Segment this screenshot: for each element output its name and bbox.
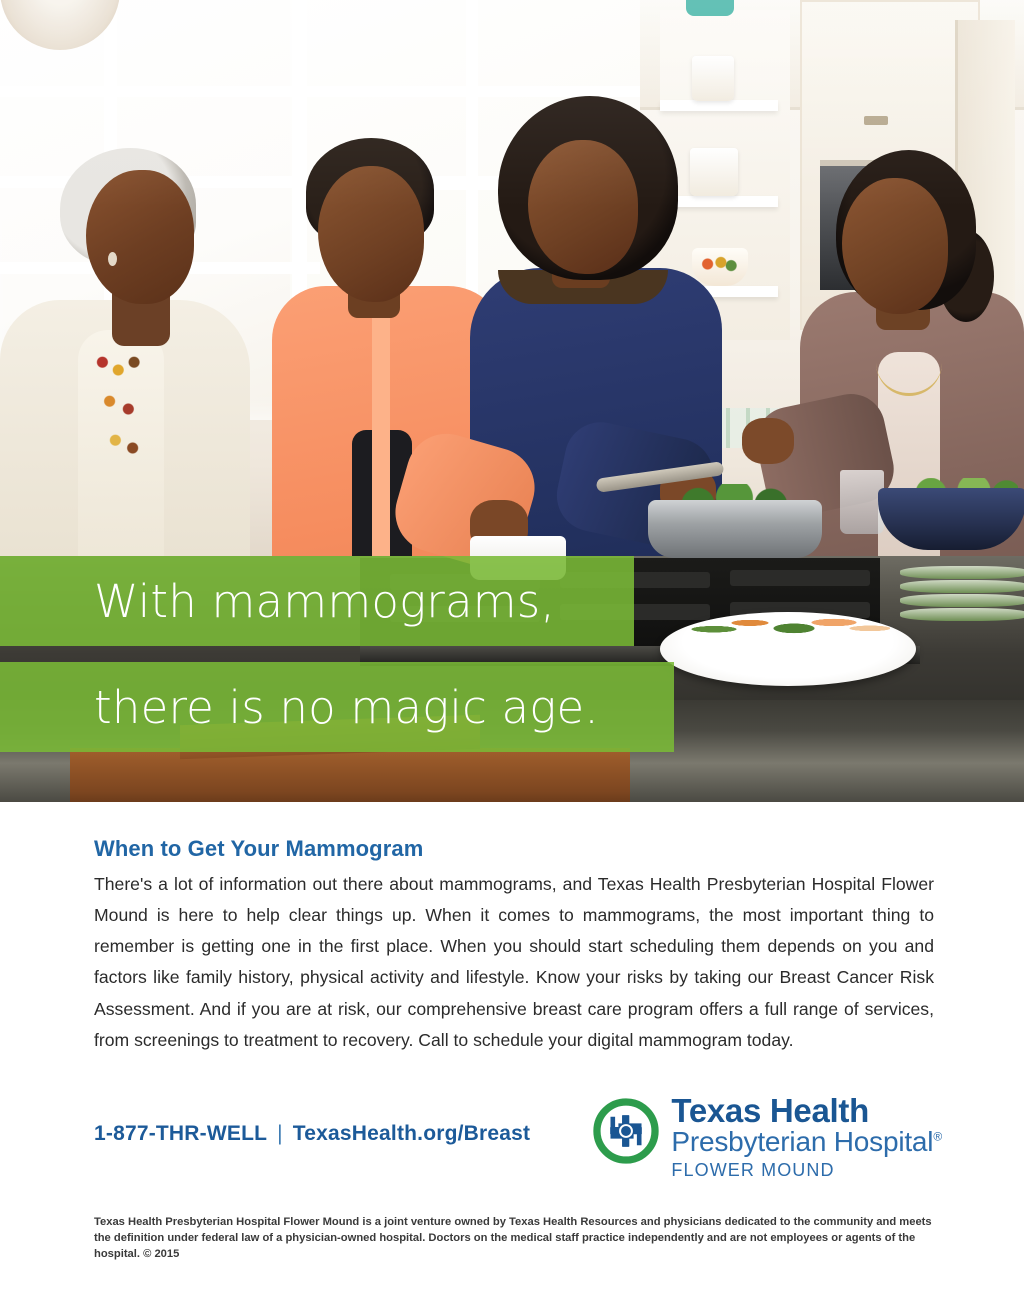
headline-band-1: With mammograms, xyxy=(0,556,634,646)
contact-and-logo-row: 1-877-THR-WELL|TexasHealth.org/Breast xyxy=(94,1110,942,1206)
plate xyxy=(900,580,1024,593)
logo-line-1: Texas Health xyxy=(671,1094,942,1127)
phone-number[interactable]: 1-877-THR-WELL xyxy=(94,1122,267,1145)
body-content: When to Get Your Mammogram There's a lot… xyxy=(94,836,934,1056)
plate xyxy=(900,608,1024,621)
person-3-face xyxy=(528,140,638,274)
website-link[interactable]: TexasHealth.org/Breast xyxy=(293,1122,530,1145)
shelf xyxy=(660,100,778,111)
person-4-hand xyxy=(742,418,794,464)
section-heading: When to Get Your Mammogram xyxy=(94,836,934,862)
texas-health-logo: Texas Health Presbyterian Hospital® FLOW… xyxy=(593,1094,942,1179)
body-paragraph: There's a lot of information out there a… xyxy=(94,869,934,1056)
floral-bowl xyxy=(692,248,748,286)
blue-serving-bowl xyxy=(878,488,1024,550)
contact-separator: | xyxy=(267,1122,293,1145)
logo-line-3: FLOWER MOUND xyxy=(671,1161,942,1179)
saute-pan xyxy=(648,500,822,558)
legal-disclaimer: Texas Health Presbyterian Hospital Flowe… xyxy=(94,1214,940,1263)
hero-photo-area: With mammograms, there is no magic age. xyxy=(0,0,1024,802)
logo-line-2: Presbyterian Hospital® xyxy=(671,1128,942,1156)
person-4-face xyxy=(842,178,948,314)
person-1-face xyxy=(86,170,194,304)
plate xyxy=(900,594,1024,607)
food-on-platter xyxy=(690,604,890,646)
headline-line-1: With mammograms, xyxy=(0,579,555,624)
plate xyxy=(900,566,1024,579)
logo-wordmark: Texas Health Presbyterian Hospital® FLOW… xyxy=(671,1094,942,1179)
contact-line: 1-877-THR-WELL|TexasHealth.org/Breast xyxy=(94,1122,530,1146)
person-2-shirt-placket xyxy=(372,300,390,600)
teal-pot xyxy=(686,0,734,16)
registered-trademark: ® xyxy=(933,1130,942,1144)
wood-cabinet xyxy=(70,748,630,802)
person-1-earring xyxy=(108,252,117,266)
window-mullion xyxy=(0,86,650,97)
headline-line-2: there is no magic age. xyxy=(0,685,599,730)
burner-grate xyxy=(730,570,870,586)
person-2-face xyxy=(318,166,424,302)
ceramic-jar xyxy=(692,56,734,101)
cabinet-handle xyxy=(864,116,888,125)
texas-health-celtic-cross-icon xyxy=(593,1098,659,1164)
ceramic-jar xyxy=(690,148,738,196)
headline-band-2: there is no magic age. xyxy=(0,662,674,752)
stacked-plates xyxy=(900,566,1024,638)
advertisement-page: With mammograms, there is no magic age. … xyxy=(0,0,1024,1312)
person-1-necklace xyxy=(88,344,160,474)
